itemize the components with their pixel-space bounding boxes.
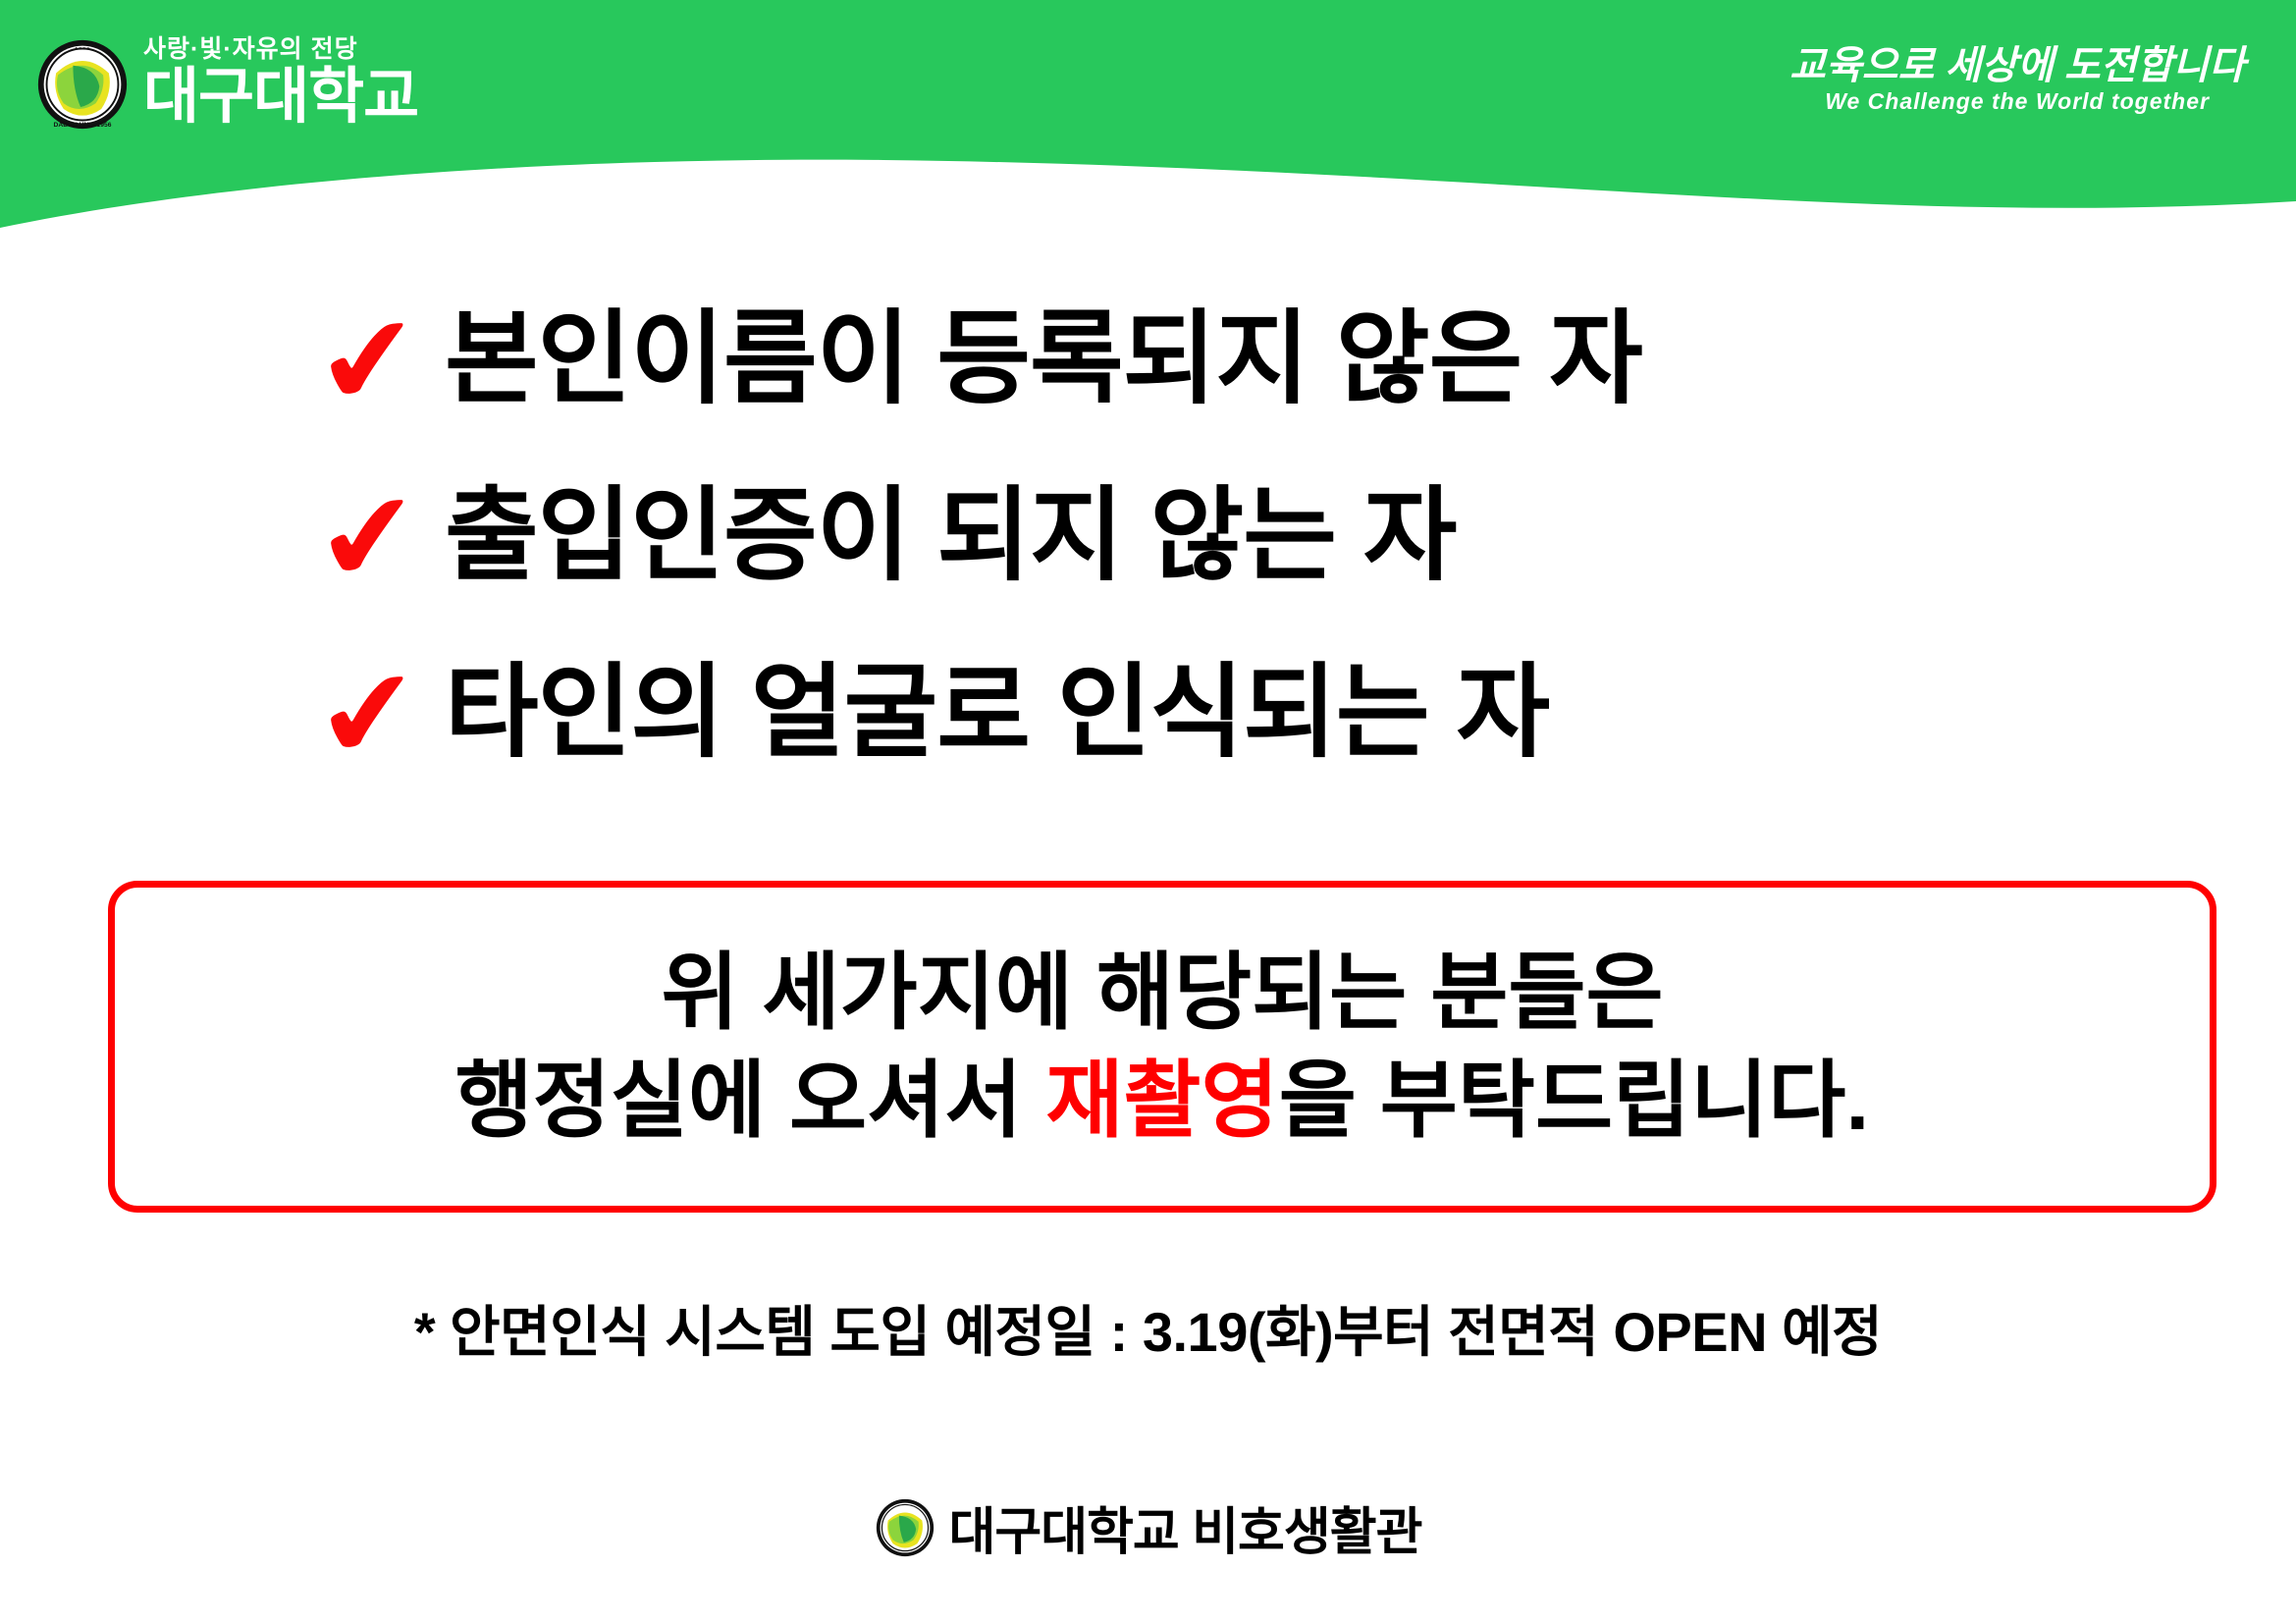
bullet-text: 타인의 얼굴로 인식되는 자	[445, 662, 1549, 764]
callout-line-2-before: 행정실에 오셔서	[455, 1054, 1046, 1148]
bullet-list: ✔ 본인이름이 등록되지 않은 자 ✔ 출입인증이 되지 않는 자 ✔ 타인의 …	[0, 271, 2296, 801]
bullet-text: 본인이름이 등록되지 않은 자	[445, 308, 1642, 410]
footnote: * 안면인식 시스템 도입 예정일 : 3.19(화)부터 전면적 OPEN 예…	[0, 1288, 2296, 1368]
svg-text:DAEGU UNIV 1956: DAEGU UNIV 1956	[54, 122, 112, 129]
checkmark-icon: ✔	[309, 470, 454, 603]
daegu-university-seal-icon: · · · · DAEGU UNIV 1956	[35, 37, 130, 132]
daegu-university-seal-icon	[875, 1497, 935, 1558]
callout-line-2-after: 을 부탁드립니다.	[1279, 1054, 1870, 1148]
slogan-english: We Challenge the World together	[1789, 88, 2245, 115]
svg-text:· · · ·: · · · ·	[76, 44, 90, 51]
slogan-block: 교육으로 세상에 도전합니다 We Challenge the World to…	[1789, 45, 2245, 115]
slogan-korean: 교육으로 세상에 도전합니다	[1789, 45, 2245, 86]
checkmark-icon: ✔	[309, 647, 454, 780]
callout-line-1: 위 세가지에 해당되는 분들은	[661, 939, 1663, 1047]
notice-poster: · · · · DAEGU UNIV 1956 사랑·빛·자유의 전당 대구대학…	[0, 0, 2296, 1624]
brand-lockup: · · · · DAEGU UNIV 1956 사랑·빛·자유의 전당 대구대학…	[35, 37, 418, 132]
bullet-row: ✔ 출입인증이 되지 않는 자	[0, 448, 2296, 624]
brand-name: 대구대학교	[143, 67, 418, 128]
bullet-text: 출입인증이 되지 않는 자	[445, 485, 1457, 587]
footer-org-name: 대구대학교 비호생활관	[949, 1490, 1422, 1564]
bullet-row: ✔ 타인의 얼굴로 인식되는 자	[0, 624, 2296, 801]
callout-box: 위 세가지에 해당되는 분들은 행정실에 오셔서 재촬영을 부탁드립니다.	[108, 881, 2216, 1213]
callout-highlight: 재촬영	[1045, 1054, 1278, 1148]
checkmark-icon: ✔	[309, 294, 454, 426]
callout-line-2: 행정실에 오셔서 재촬영을 부탁드립니다.	[455, 1047, 1870, 1155]
brand-tagline: 사랑·빛·자유의 전당	[143, 37, 358, 62]
bullet-row: ✔ 본인이름이 등록되지 않은 자	[0, 271, 2296, 448]
footer-signature: 대구대학교 비호생활관	[0, 1490, 2296, 1564]
brand-text-block: 사랑·빛·자유의 전당 대구대학교	[143, 37, 418, 132]
